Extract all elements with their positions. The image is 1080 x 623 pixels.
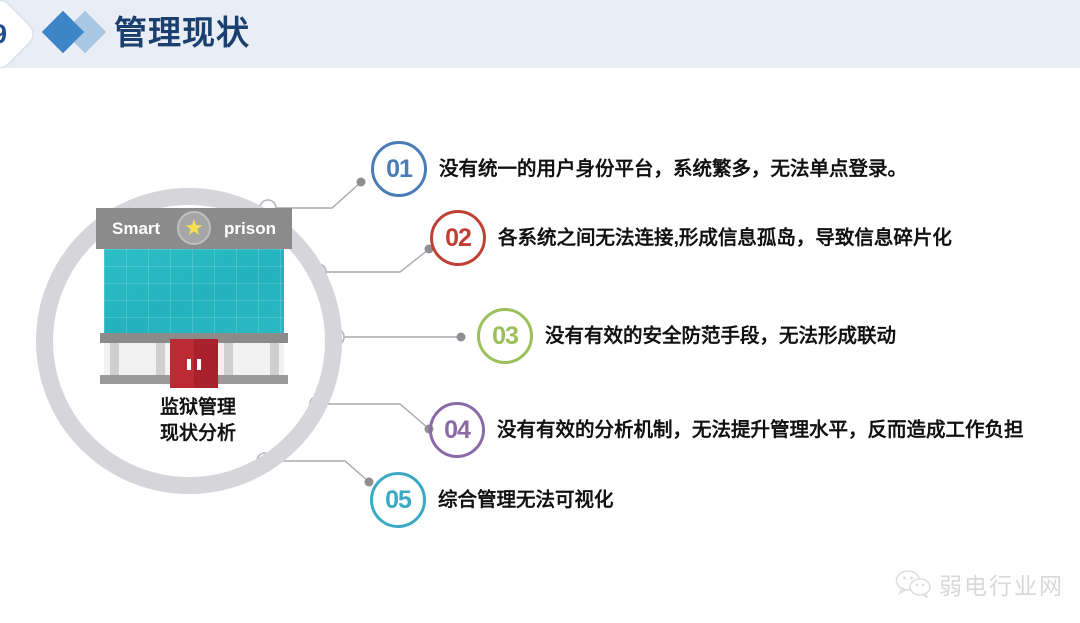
prison-building-icon: Smart prison ★: [96, 208, 292, 390]
watermark: 弱电行业网: [895, 567, 1064, 601]
item-number-badge: 03: [477, 308, 533, 364]
sign-text-right: prison: [224, 208, 276, 249]
wechat-icon: [895, 569, 933, 599]
item-label: 综合管理无法可视化: [438, 486, 614, 514]
watermark-label: 弱电行业网: [939, 567, 1064, 601]
item-label: 没有有效的分析机制，无法提升管理水平，反而造成工作负担: [497, 416, 1024, 444]
list-item-02: 02 各系统之间无法连接,形成信息孤岛，导致信息碎片化: [430, 210, 952, 266]
star-icon: ★: [184, 217, 204, 239]
item-number-badge: 01: [371, 141, 427, 197]
building-sign: Smart prison ★: [96, 208, 292, 249]
building-door: [170, 339, 218, 388]
star-badge: ★: [177, 211, 211, 245]
item-label: 各系统之间无法连接,形成信息孤岛，导致信息碎片化: [498, 224, 952, 252]
page-title: 管理现状: [114, 9, 250, 57]
item-number-badge: 02: [430, 210, 486, 266]
header-diamond-logo: [44, 10, 118, 58]
illustration-caption: 监狱管理 现状分析: [28, 395, 368, 447]
door-handle: [197, 359, 201, 370]
caption-line-2: 现状分析: [28, 421, 368, 447]
item-label: 没有统一的用户身份平台，系统繁多，无法单点登录。: [439, 155, 907, 183]
list-item-01: 01 没有统一的用户身份平台，系统繁多，无法单点登录。: [371, 141, 907, 197]
building-glass-facade: [104, 249, 284, 333]
door-handle: [187, 359, 191, 370]
page-number-badge: 9: [0, 0, 37, 72]
list-item-03: 03 没有有效的安全防范手段，无法形成联动: [477, 308, 896, 364]
item-number-badge: 05: [370, 472, 426, 528]
item-number-badge: 04: [429, 402, 485, 458]
item-label: 没有有效的安全防范手段，无法形成联动: [545, 322, 896, 350]
page-header: 9 管理现状: [0, 0, 1080, 68]
list-item-04: 04 没有有效的分析机制，无法提升管理水平，反而造成工作负担: [429, 402, 1024, 458]
list-item-05: 05 综合管理无法可视化: [370, 472, 614, 528]
prison-illustration: Smart prison ★ 监狱管理 现状分析: [28, 180, 368, 520]
page-number: 9: [0, 7, 26, 61]
caption-line-1: 监狱管理: [28, 395, 368, 421]
sign-text-left: Smart: [112, 208, 160, 249]
